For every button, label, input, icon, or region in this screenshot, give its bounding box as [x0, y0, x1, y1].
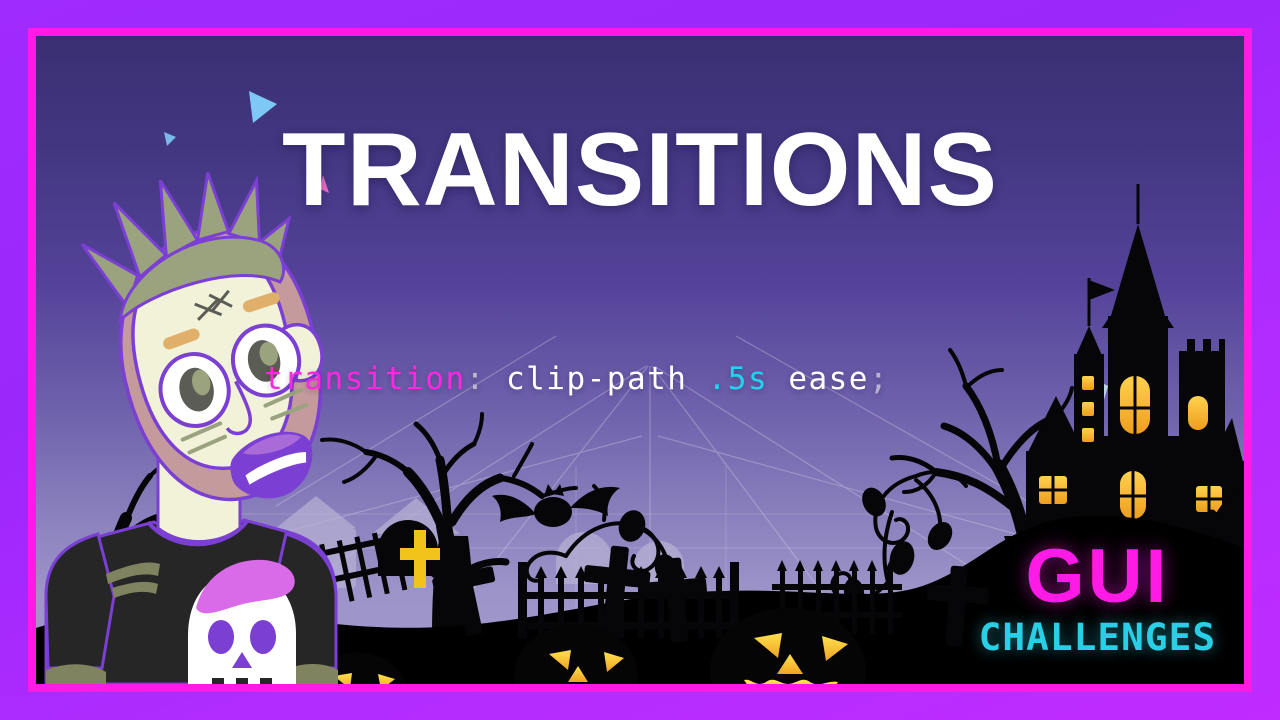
flying-bat [492, 484, 620, 527]
halloween-scene: TRANSITIONS transition: clip-path .5s ea… [36, 36, 1244, 684]
zombie-character [46, 155, 349, 684]
magenta-frame-border: TRANSITIONS transition: clip-path .5s ea… [28, 28, 1252, 692]
code-token-property: transition [264, 361, 466, 397]
code-token-duration: .5s [708, 361, 769, 397]
video-thumbnail: TRANSITIONS transition: clip-path .5s ea… [0, 0, 1280, 720]
code-snippet: transition: clip-path .5s ease; [264, 361, 889, 397]
code-token-space-1 [486, 361, 506, 397]
code-token-value: clip-path [506, 361, 687, 397]
code-token-semicolon: ; [869, 361, 889, 397]
gui-challenges-logo: GUI CHALLENGES [981, 539, 1214, 656]
logo-line-challenges: CHALLENGES [979, 619, 1216, 656]
code-token-space-3 [768, 361, 788, 397]
logo-line-gui: GUI [981, 539, 1214, 615]
shirt-sleeve-left [46, 534, 114, 668]
code-token-space-2 [687, 361, 707, 397]
code-token-colon: : [466, 361, 486, 397]
code-token-easing: ease [788, 361, 869, 397]
